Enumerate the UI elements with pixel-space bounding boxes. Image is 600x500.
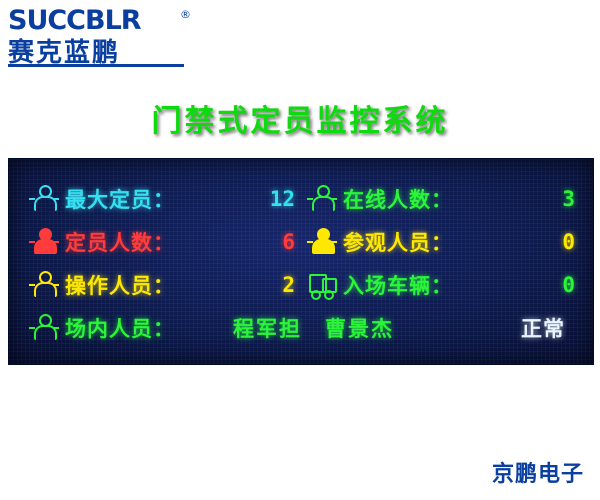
max-capacity-value: 12	[270, 187, 301, 211]
online-count-label: 在线人数：	[343, 184, 453, 214]
panel-row: 场内人员： 程军担 曹景杰 正常	[9, 308, 593, 348]
person-green-icon	[31, 313, 57, 343]
led-display-panel: 最大定员： 12 在线人数： 3 定员人数： 6 参观人员： 0	[8, 158, 594, 365]
panel-row: 定员人数： 6 参观人员： 0	[9, 222, 593, 262]
truck-green-icon	[309, 270, 335, 300]
assigned-count-value: 6	[282, 230, 301, 254]
panel-row: 最大定员： 12 在线人数： 3	[9, 179, 593, 219]
operator-count-value: 2	[282, 273, 301, 297]
onsite-personnel-names: 程军担 曹景杰	[233, 313, 394, 343]
person-red-icon	[31, 227, 57, 257]
visitor-count-label: 参观人员：	[343, 227, 453, 257]
registered-trademark-icon: ®	[180, 8, 191, 21]
person-yellow-icon	[309, 227, 335, 257]
status-badge: 正常	[521, 313, 571, 343]
max-capacity-field: 最大定员： 12	[31, 184, 301, 214]
visitor-count-value: 0	[562, 230, 581, 254]
vehicle-count-field: 入场车辆： 0	[309, 270, 581, 300]
operator-count-label: 操作人员：	[65, 270, 175, 300]
footer-company: 京鹏电子	[492, 456, 584, 488]
assigned-count-label: 定员人数：	[65, 227, 175, 257]
page-title: 门禁式定员监控系统	[0, 96, 600, 140]
onsite-personnel-label: 场内人员：	[65, 313, 175, 343]
brand-logo: SUCCBLR ® 赛克蓝鹏	[8, 6, 238, 66]
logo-underline	[8, 64, 184, 67]
max-capacity-label: 最大定员：	[65, 184, 175, 214]
vehicle-count-value: 0	[562, 273, 581, 297]
online-count-value: 3	[562, 187, 581, 211]
person-yellow-icon	[31, 270, 57, 300]
visitor-count-field: 参观人员： 0	[309, 227, 581, 257]
vehicle-count-label: 入场车辆：	[343, 270, 453, 300]
onsite-personnel-field: 场内人员： 程军担 曹景杰 正常	[31, 313, 571, 343]
brand-name-en: SUCCBLR	[8, 6, 238, 36]
operator-count-field: 操作人员： 2	[31, 270, 301, 300]
panel-row: 操作人员： 2 入场车辆： 0	[9, 265, 593, 305]
person-green-icon	[309, 184, 335, 214]
assigned-count-field: 定员人数： 6	[31, 227, 301, 257]
online-count-field: 在线人数： 3	[309, 184, 581, 214]
person-cyan-icon	[31, 184, 57, 214]
